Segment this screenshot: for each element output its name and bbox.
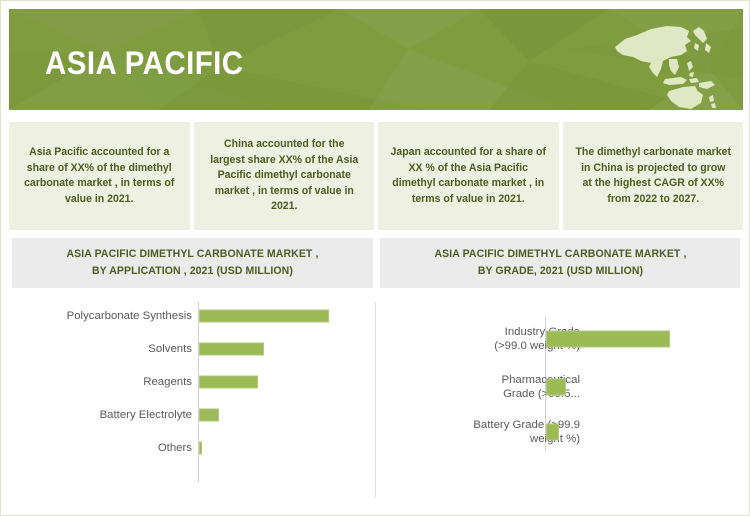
chart-title-line1: ASIA PACIFIC DIMETHYL CARBONATE MARKET , — [434, 248, 686, 260]
bar-label: Reagents — [22, 375, 192, 389]
chart-title-line2: BY GRADE, 2021 (USD MILLION) — [477, 265, 642, 277]
asia-pacific-map-icon — [611, 17, 721, 109]
callout-text: Japan accounted for a share of XX % of t… — [390, 145, 547, 207]
bar — [199, 376, 258, 389]
callout-row: Asia Pacific accounted for a share of XX… — [9, 122, 743, 230]
bar — [199, 310, 329, 323]
callout-box-china-cagr: The dimethyl carbonate market in China i… — [563, 122, 744, 230]
plot-area-by-grade: Industry Grade(>99.0 weight %) Pharmaceu… — [377, 302, 743, 482]
chart-title-line2: BY APPLICATION , 2021 (USD MILLION) — [92, 265, 293, 277]
bar — [199, 409, 219, 422]
bar — [546, 331, 670, 348]
bar-label: Polycarbonate Synthesis — [22, 309, 192, 323]
callout-text: Asia Pacific accounted for a share of XX… — [21, 145, 178, 207]
bar — [199, 343, 264, 356]
infographic-page: ASIA PACIFIC — [0, 0, 750, 516]
chart-by-grade: ASIA PACIFIC DIMETHYL CARBONATE MARKET ,… — [376, 238, 743, 506]
callout-box-china-share: China accounted for the largest share XX… — [194, 122, 375, 230]
callout-text: The dimethyl carbonate market in China i… — [574, 145, 731, 207]
bar-label-line2: Grade (>99.5... — [503, 388, 580, 400]
chart-title-line1: ASIA PACIFIC DIMETHYL CARBONATE MARKET , — [66, 248, 318, 260]
plot-area-by-application: Polycarbonate Synthesis Solvents Reagent… — [9, 302, 376, 482]
bar — [546, 379, 566, 396]
bar-label: Solvents — [22, 342, 192, 356]
bar-label-line1: Battery Grade (>99.9 — [473, 419, 580, 431]
callout-box-asia-pacific: Asia Pacific accounted for a share of XX… — [9, 122, 190, 230]
page-title: ASIA PACIFIC — [45, 45, 244, 82]
callout-box-japan-share: Japan accounted for a share of XX % of t… — [378, 122, 559, 230]
charts-section: ASIA PACIFIC DIMETHYL CARBONATE MARKET ,… — [9, 238, 743, 506]
header-banner: ASIA PACIFIC — [9, 9, 743, 110]
chart-title-by-grade: ASIA PACIFIC DIMETHYL CARBONATE MARKET ,… — [380, 238, 740, 288]
chart-title-text: ASIA PACIFIC DIMETHYL CARBONATE MARKET ,… — [434, 246, 686, 280]
chart-title-text: ASIA PACIFIC DIMETHYL CARBONATE MARKET ,… — [66, 246, 318, 280]
bar-label: Others — [22, 441, 192, 455]
chart-title-by-application: ASIA PACIFIC DIMETHYL CARBONATE MARKET ,… — [12, 238, 373, 288]
callout-text: China accounted for the largest share XX… — [205, 137, 362, 215]
chart-by-application: ASIA PACIFIC DIMETHYL CARBONATE MARKET ,… — [9, 238, 376, 506]
bar-label: Battery Electrolyte — [22, 408, 192, 422]
bar-label-line1: Pharmaceutical — [501, 374, 580, 386]
bar — [199, 442, 202, 455]
bar — [546, 424, 559, 441]
category-axis — [198, 302, 199, 482]
